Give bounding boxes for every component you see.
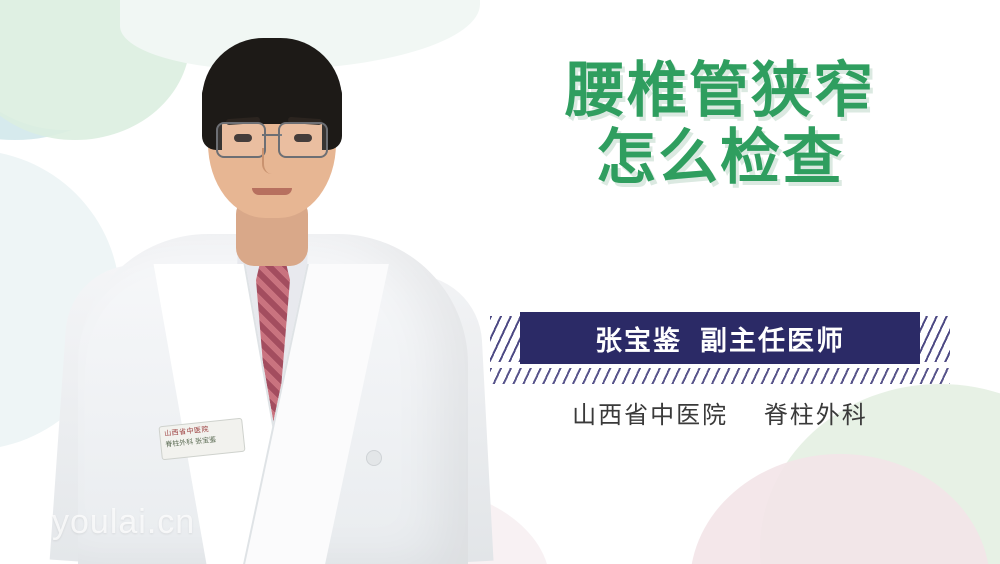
doctor-portrait: 山西省中医院 脊柱外科 张宝鉴: [60, 0, 480, 564]
coat-button: [366, 450, 382, 466]
title-line-1: 腰椎管狭窄: [500, 58, 940, 125]
speaker-affiliation: 山西省中医院 脊柱外科: [490, 395, 950, 430]
department-name: 脊柱外科: [764, 401, 868, 429]
video-cover-slide: 山西省中医院 脊柱外科 张宝鉴 腰椎管狭窄 怎么检查 张宝鉴 副主任医师 山西省…: [0, 0, 1000, 564]
speaker-title: 副主任医师: [700, 319, 845, 358]
page-title: 腰椎管狭窄 怎么检查: [500, 58, 940, 192]
mouth: [252, 188, 292, 195]
speaker-name: 张宝鉴: [595, 319, 682, 358]
name-pill: 张宝鉴 副主任医师: [520, 312, 920, 364]
lens-right: [278, 122, 328, 158]
hair: [202, 38, 342, 124]
hospital-name: 山西省中医院: [572, 401, 728, 429]
title-line-2: 怎么检查: [500, 125, 940, 192]
watermark: youlai.cn: [52, 503, 195, 542]
nose: [262, 148, 280, 174]
hatch-pattern-bottom: [490, 368, 950, 384]
lens-left: [216, 122, 266, 158]
